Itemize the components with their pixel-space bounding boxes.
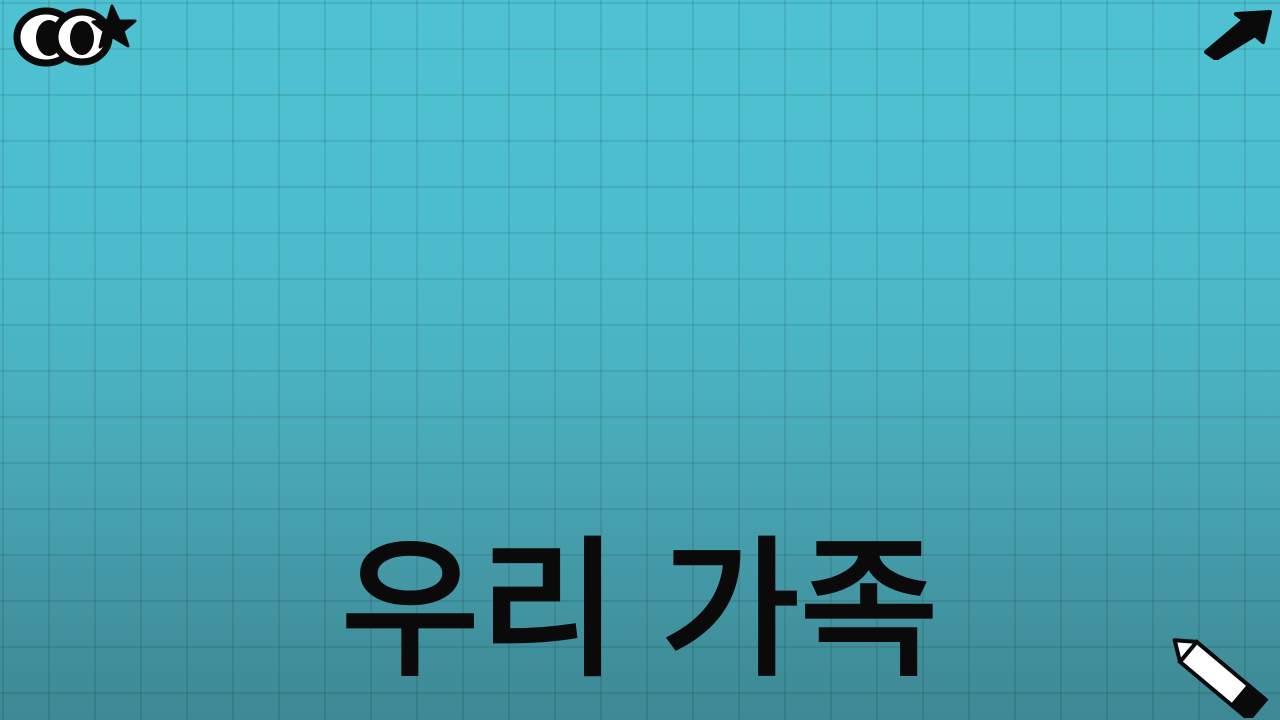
slide-canvas: 우리 가족 피부 지킴이 (0, 0, 1280, 720)
page-title: 우리 가족 피부 지킴이 (0, 168, 1280, 720)
cartoon-eyes-logo (8, 0, 138, 72)
headline-line-1: 우리 가족 (0, 522, 1280, 699)
arrow-southwest-icon (1200, 2, 1274, 60)
